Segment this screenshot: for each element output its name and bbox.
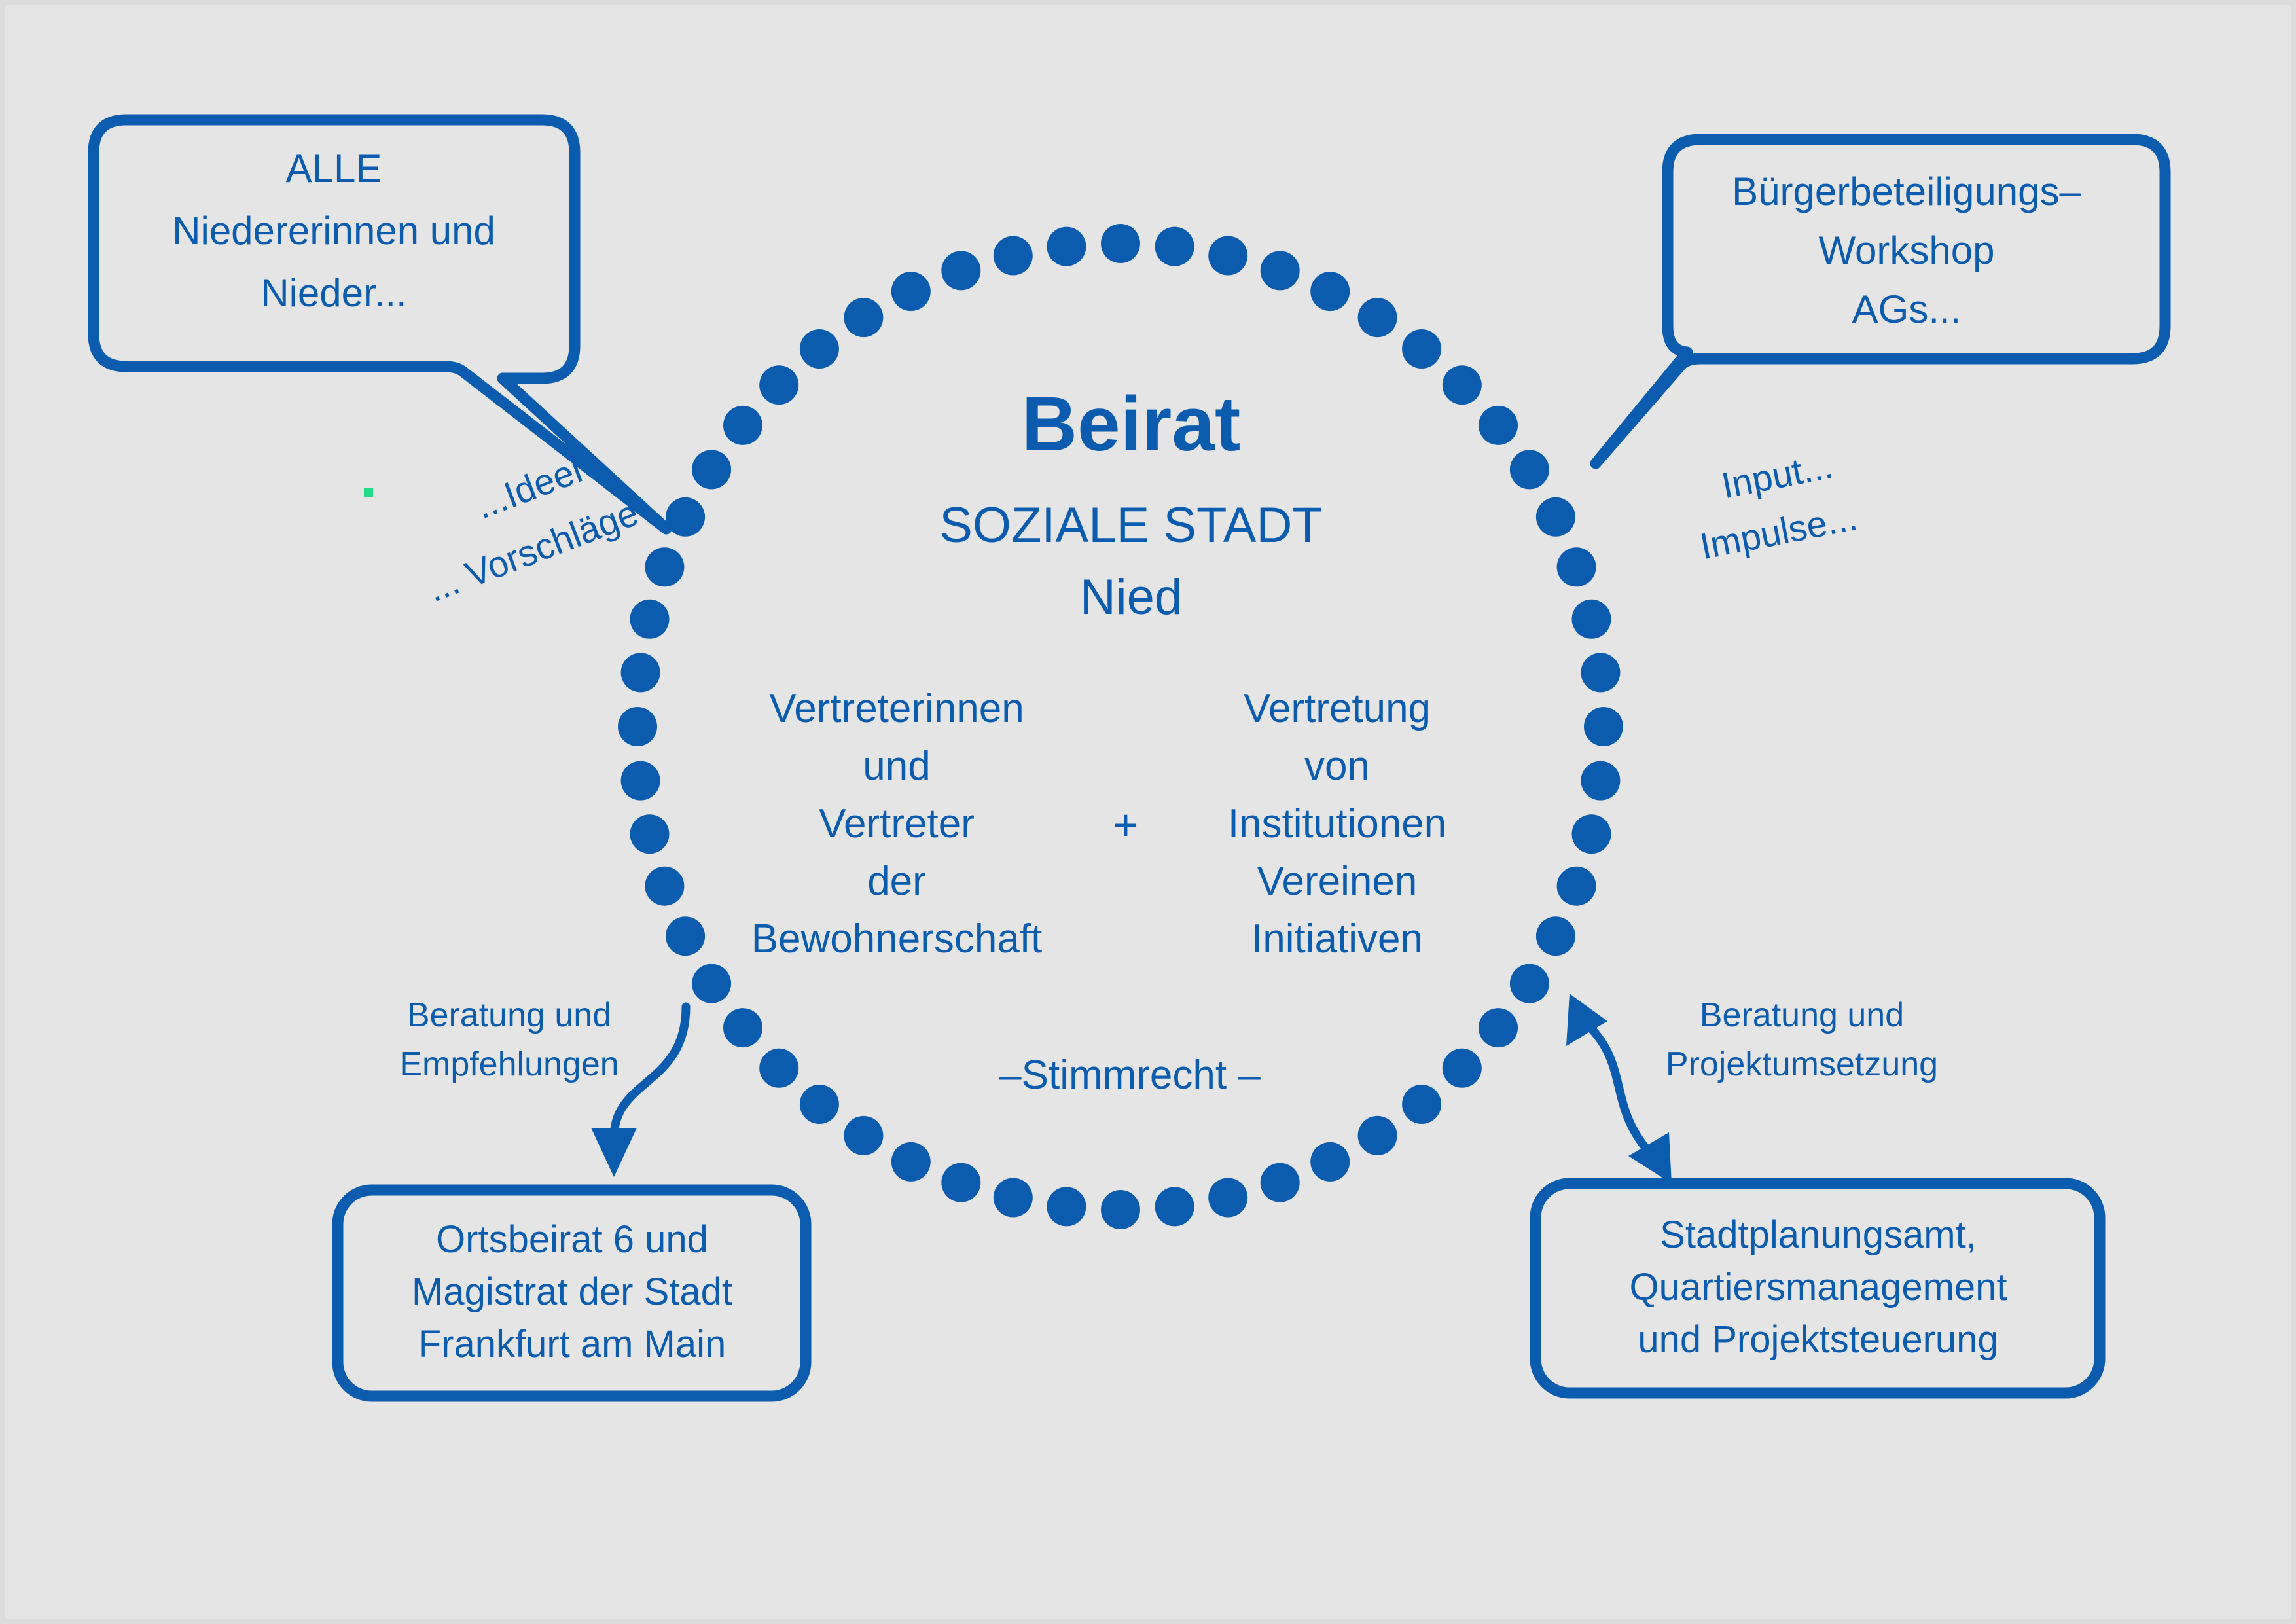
center-subtitle-line2: Nied (1080, 569, 1182, 625)
ring-dot (759, 365, 798, 405)
bubble-tr-line2: Workshop (1818, 228, 1994, 272)
ring-dot (630, 600, 670, 639)
box-br-line2: Quartiersmanagement (1629, 1266, 2007, 1308)
ring-dot (692, 964, 731, 1003)
ring-dot (1536, 916, 1575, 956)
left-col-line4: der (867, 859, 926, 904)
bubble-tl-line2: Niedererinnen und (172, 209, 495, 253)
ring-dot (1310, 272, 1350, 311)
ring-dot (1510, 964, 1549, 1003)
ring-dot (666, 916, 705, 956)
ring-dot (994, 1178, 1033, 1218)
box-bl-line3: Frankfurt am Main (418, 1323, 726, 1365)
ring-dot (1443, 365, 1482, 405)
ring-dot (800, 329, 839, 369)
ring-dot (1047, 1187, 1086, 1226)
right-col-line5: Initiativen (1251, 916, 1423, 962)
box-bl-line2: Magistrat der Stadt (412, 1271, 732, 1313)
ring-dot (618, 707, 657, 746)
ring-dot (1402, 1085, 1441, 1124)
bubble-tl-line3: Nieder... (260, 271, 406, 315)
ring-dot (844, 1116, 883, 1155)
ring-dot (666, 497, 705, 537)
ring-dot (941, 1163, 980, 1202)
arrow-left-head (591, 1128, 637, 1177)
speech-bubble-top-right[interactable]: Bürgerbeteiligungs– Workshop AGs... (1596, 139, 2165, 463)
right-upper-flow-labels: Input... Impulse... (1686, 442, 1861, 568)
ring-dot (1208, 236, 1247, 276)
ring-dot (621, 653, 660, 692)
ring-dot (891, 1142, 931, 1182)
right-lower-label-line1: Beratung und (1700, 996, 1904, 1034)
left-lower-label-line2: Empfehlungen (399, 1045, 619, 1083)
ring-dot (1581, 761, 1620, 801)
bubble-tr-line1: Bürgerbeteiligungs– (1732, 170, 2081, 213)
left-col-line2: und (863, 744, 930, 789)
ring-dot (1101, 224, 1140, 263)
ring-dot (1155, 227, 1194, 266)
center-title: Beirat (1022, 381, 1240, 467)
ring-dot (1358, 298, 1397, 337)
ring-dot (1443, 1049, 1482, 1088)
box-br-line1: Stadtplanungsamt, (1660, 1214, 1977, 1256)
arrow-left-shaft (614, 1007, 686, 1138)
right-col-line2: von (1304, 744, 1370, 789)
ring-dot (891, 272, 931, 311)
right-col-line3: Institutionen (1228, 801, 1446, 846)
ring-dot (1572, 814, 1611, 854)
ring-dot (1047, 227, 1086, 266)
center-subtitle-line1: SOZIALE STADT (939, 497, 1323, 553)
ring-dot (645, 867, 684, 906)
right-upper-label-line2: Impulse... (1696, 496, 1860, 567)
ring-dot (1358, 1116, 1397, 1155)
ring-dot (1310, 1142, 1350, 1182)
ring-dot (1581, 653, 1620, 692)
right-upper-label-line1: Input... (1718, 444, 1836, 507)
ring-dot (844, 298, 883, 337)
right-lower-label-line2: Projektumsetzung (1666, 1045, 1938, 1083)
ring-dot (1536, 497, 1575, 537)
ring-dot (1155, 1187, 1194, 1226)
ring-dot (1479, 406, 1518, 445)
ring-dot (1584, 707, 1623, 746)
box-bottom-right[interactable]: Stadtplanungsamt, Quartiersmanagement un… (1535, 1183, 2100, 1393)
ring-dot (941, 251, 980, 290)
bubble-tl-line1: ALLE (286, 147, 382, 190)
ring-dot (1402, 329, 1441, 369)
ring-dot (1101, 1190, 1140, 1229)
ring-dot (1557, 547, 1596, 586)
ring-dot (1557, 867, 1596, 906)
ring-dot (621, 761, 660, 801)
ring-dot (1261, 1163, 1300, 1202)
arrow-right-bidirectional (1566, 994, 1672, 1183)
beirat-structure-diagram: ALLE Niedererinnen und Nieder... Bürgerb… (5, 5, 2296, 1624)
ring-dot (1479, 1008, 1518, 1047)
ring-dot (1510, 450, 1549, 489)
ring-dot (723, 1008, 762, 1047)
left-col-line1: Vertreterinnen (769, 686, 1024, 731)
left-col-line5: Bewohnerschaft (751, 916, 1043, 962)
ring-dot (645, 547, 684, 586)
arrow-right-shaft (1589, 1026, 1648, 1151)
left-col-line3: Vertreter (819, 801, 975, 846)
ring-dot (800, 1085, 839, 1124)
bubble-tr-line3: AGs... (1852, 287, 1962, 331)
left-upper-label-line2: ... Vorschläge (422, 492, 643, 609)
ring-dot (630, 814, 670, 854)
ring-dot (1572, 600, 1611, 639)
left-upper-flow-labels: ...Ideen ... Vorschläge (400, 435, 643, 609)
ring-dot (1208, 1178, 1247, 1218)
green-pixel-artifact (364, 488, 373, 497)
box-bl-line1: Ortsbeirat 6 und (436, 1218, 708, 1261)
ring-dot (994, 236, 1033, 276)
ring-dot (759, 1049, 798, 1088)
box-br-line3: und Projektsteuerung (1638, 1318, 1998, 1361)
right-col-line1: Vertretung (1244, 686, 1431, 731)
right-col-line4: Vereinen (1257, 859, 1418, 904)
stimmrecht-note: –Stimmrecht – (999, 1053, 1261, 1098)
ring-dot (1261, 251, 1300, 290)
ring-dot (723, 406, 762, 445)
ring-dot (692, 450, 731, 489)
plus-sign: + (1113, 801, 1139, 849)
diagram-canvas: ALLE Niedererinnen und Nieder... Bürgerb… (0, 0, 2296, 1624)
box-bottom-left[interactable]: Ortsbeirat 6 und Magistrat der Stadt Fra… (338, 1190, 806, 1396)
left-lower-label-line1: Beratung und (407, 996, 611, 1034)
